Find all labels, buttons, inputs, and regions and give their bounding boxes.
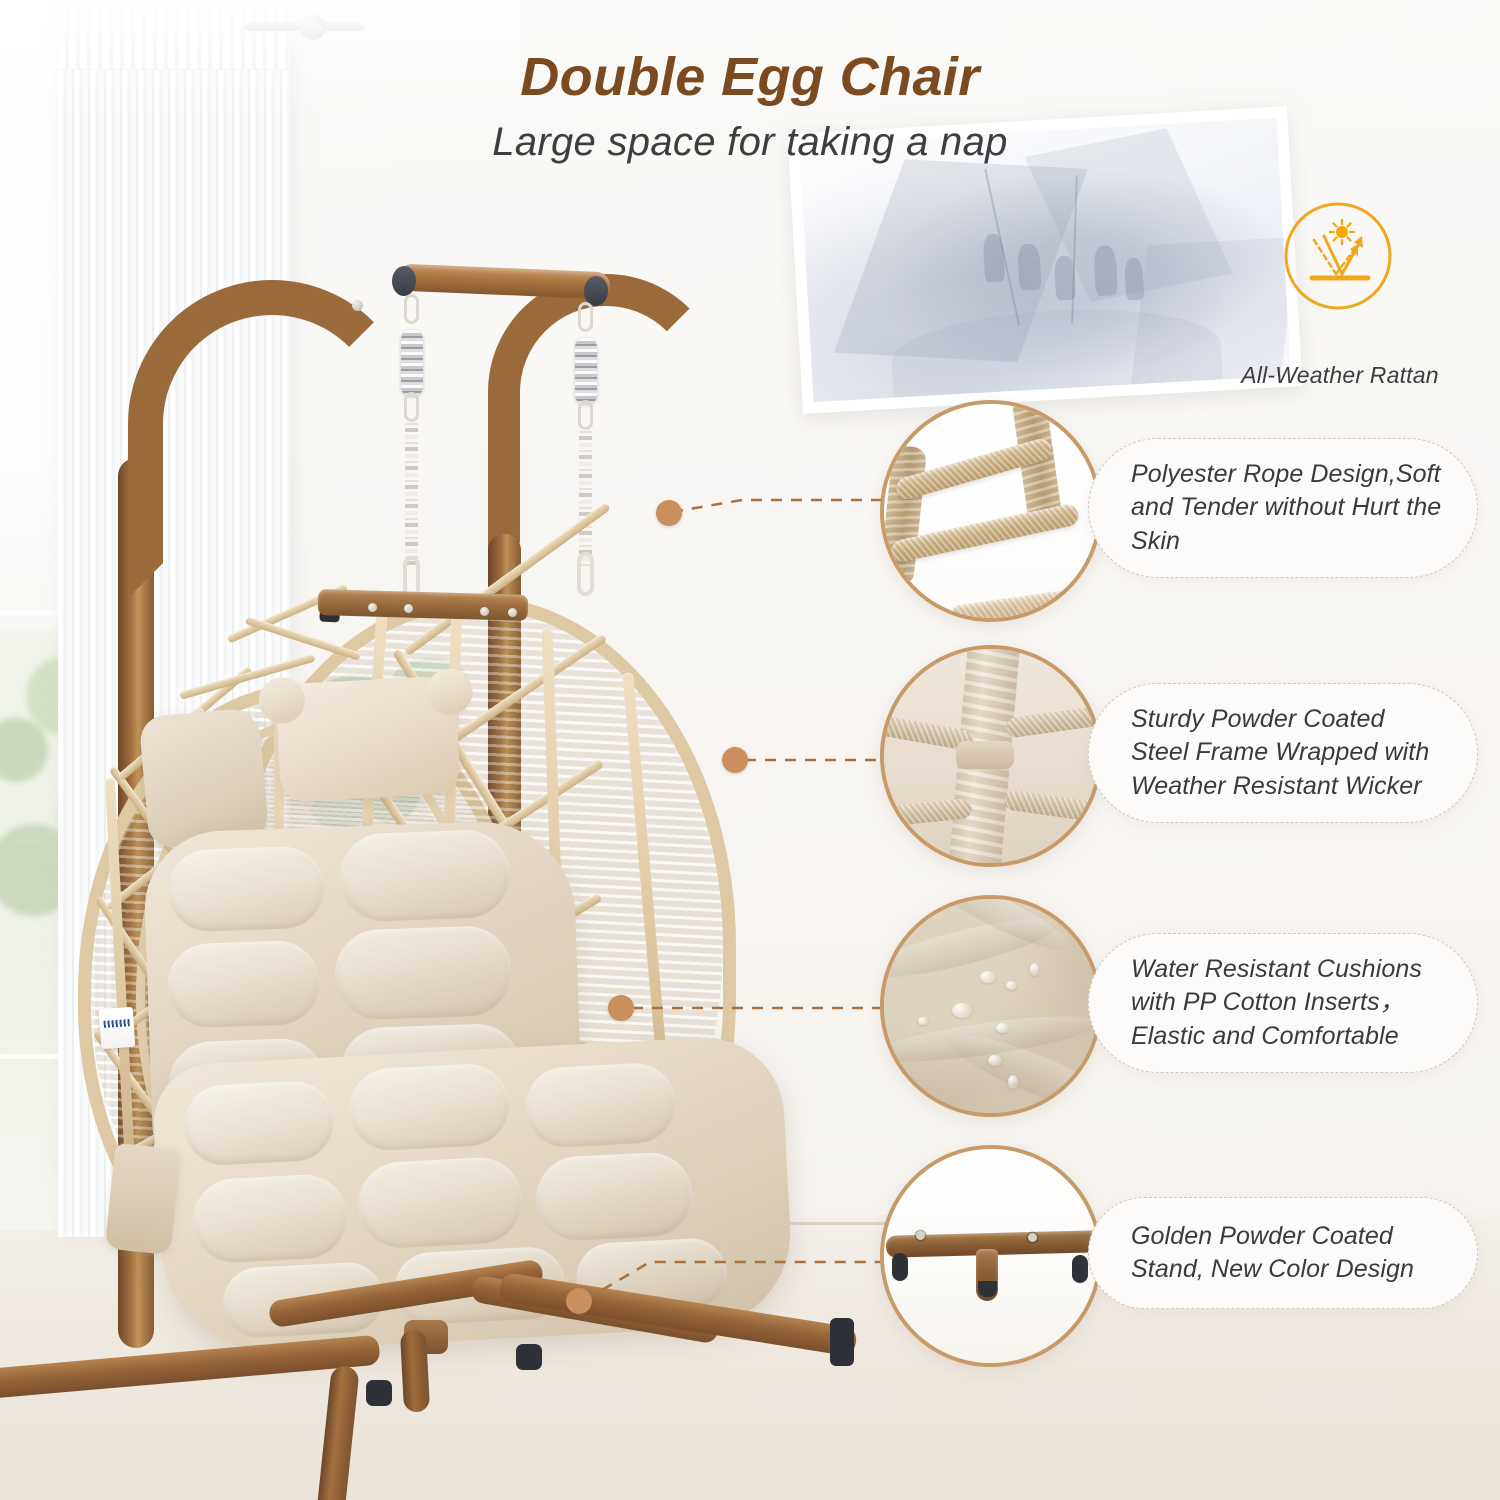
spring-link-left [404,392,419,422]
sun-reflect-icon [1282,200,1394,312]
connector-dot-2 [722,747,748,773]
feature-row-water-resistant: Water Resistant Cushions with PP Cotton … [880,895,1480,1125]
rail-screw [352,300,363,311]
connector-dot-4 [566,1288,592,1314]
stand-right-arc [488,274,724,574]
chain-left [405,420,418,568]
feature-row-steel-frame: Sturdy Powder Coated Steel Frame Wrapped… [880,645,1480,875]
feature-text-4: Golden Powder Coated Stand, New Color De… [1131,1220,1443,1287]
spring-left [401,330,423,396]
feature-text-1: Polyester Rope Design,Soft and Tender wi… [1131,458,1443,558]
stand-base-detail-photo [880,1145,1102,1367]
product-photo [0,0,900,1500]
base-leg-stub [400,1329,430,1412]
product-infographic: Double Egg Chair Large space for taking … [0,0,1500,1500]
spring-link-right [578,400,593,430]
feature-callout-4: Golden Powder Coated Stand, New Color De… [1088,1197,1478,1309]
chain-right [579,428,592,568]
connector-dot-1 [656,500,682,526]
page-subtitle: Large space for taking a nap [0,120,1500,165]
feature-text-2: Sturdy Powder Coated Steel Frame Wrapped… [1131,703,1443,803]
feature-callout-3: Water Resistant Cushions with PP Cotton … [1088,933,1478,1073]
brand-tag [99,1007,136,1049]
hook-left-icon [404,294,419,324]
feature-callout-2: Sturdy Powder Coated Steel Frame Wrapped… [1088,683,1478,823]
rope-detail-photo [880,400,1102,622]
feature-callout-1: Polyester Rope Design,Soft and Tender wi… [1088,438,1478,578]
page-title: Double Egg Chair [0,46,1500,108]
base-foot-center [366,1380,392,1406]
feature-row-golden-stand: Golden Powder Coated Stand, New Color De… [880,1145,1480,1375]
spring-right [575,338,597,404]
connector-dot-3 [608,995,634,1021]
hook-right-icon [578,302,593,332]
base-leg-down [316,1365,360,1500]
cushion-strap [105,1143,182,1255]
cushion-water-detail-photo [880,895,1102,1117]
feature-row-polyester-rope: Polyester Rope Design,Soft and Tender wi… [880,400,1480,630]
headrest-pillow-back [138,707,269,849]
wicker-frame-detail-photo [880,645,1102,867]
base-foot-far-right [830,1318,854,1366]
feature-text-3: Water Resistant Cushions with PP Cotton … [1131,953,1443,1053]
all-weather-badge [1282,200,1394,312]
headrest-pillow-front [275,675,461,802]
base-foot-right [516,1344,542,1370]
all-weather-badge-label: All-Weather Rattan [1180,362,1500,389]
stand-left-arc [128,280,416,598]
